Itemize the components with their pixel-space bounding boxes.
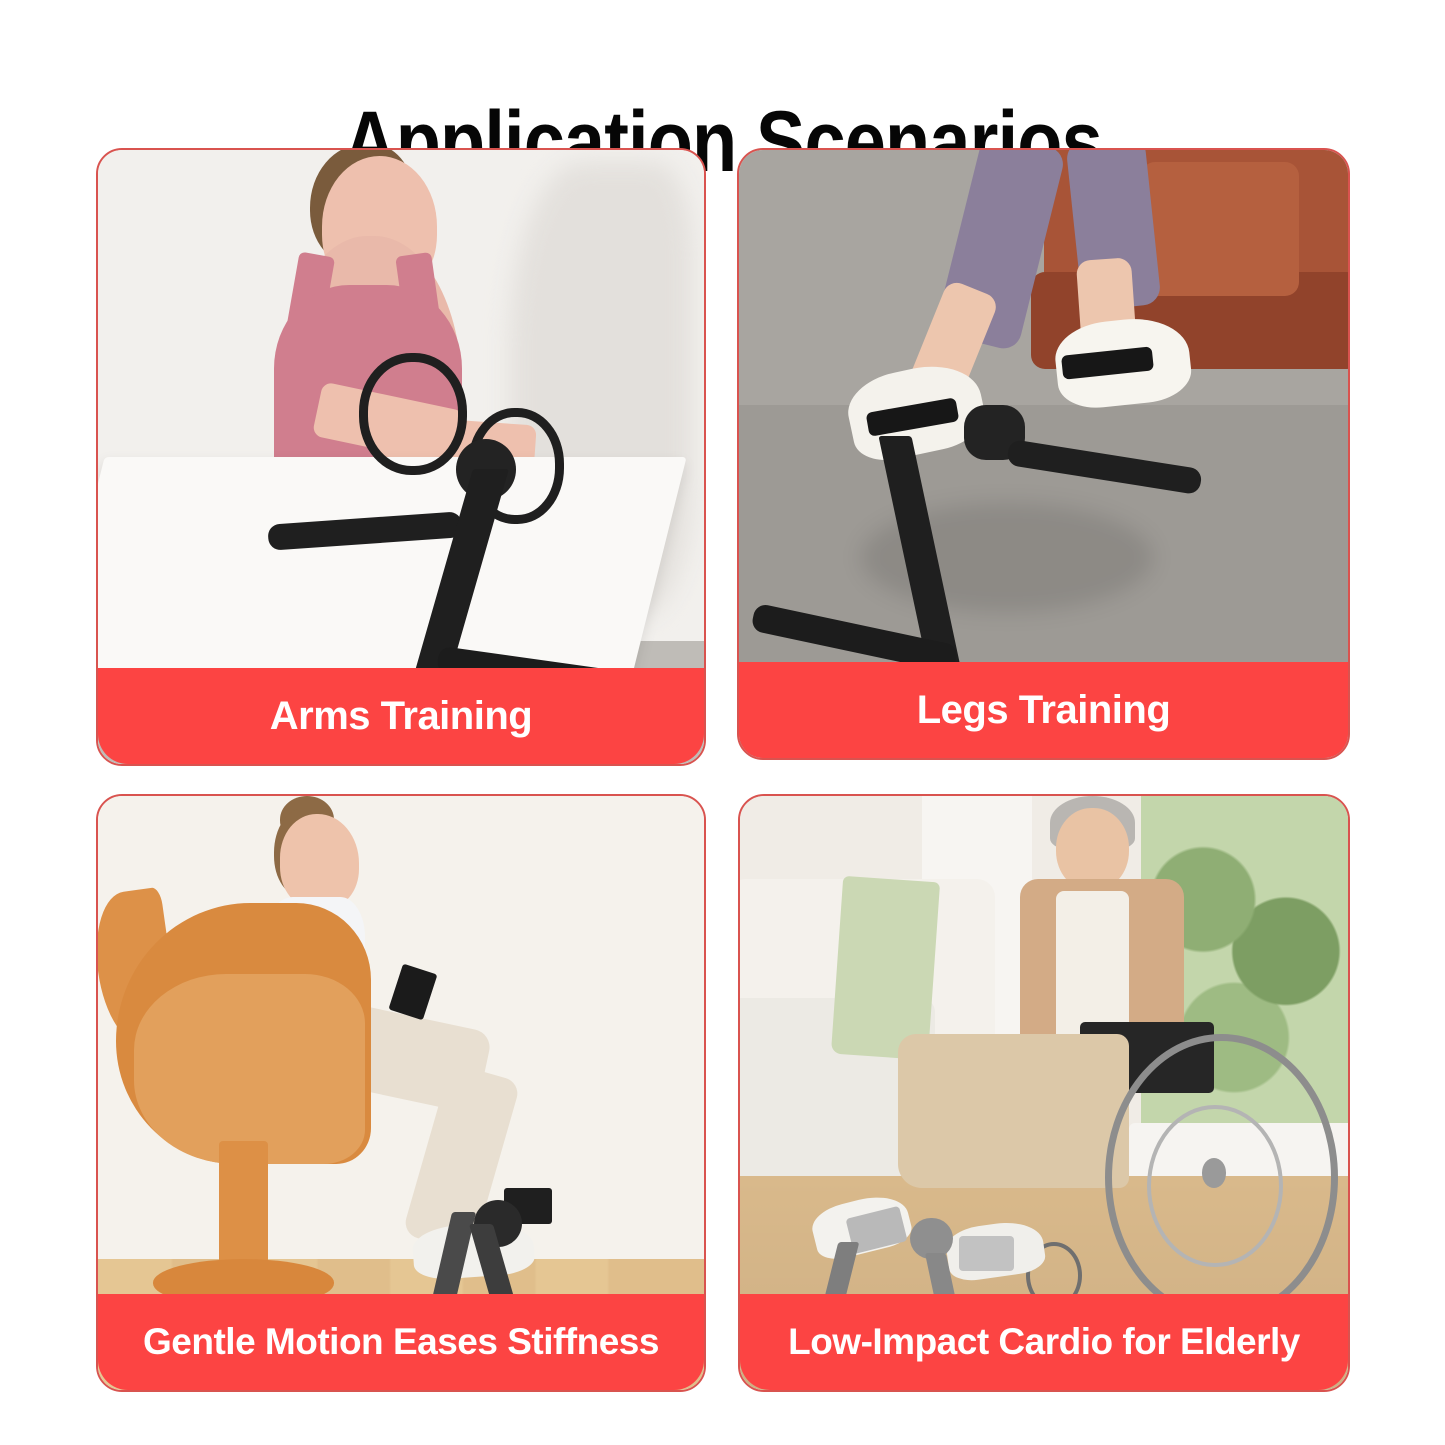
card-caption-label-arms-training: Arms Training	[270, 694, 532, 738]
scenario-card-low-impact-cardio[interactable]: Low-Impact Cardio for Elderly	[738, 794, 1350, 1392]
card-caption-band-legs-training: Legs Training	[739, 662, 1348, 758]
card-photo-frame-gentle-motion: Gentle Motion Eases Stiffness	[96, 794, 706, 1392]
card-caption-label-low-impact-cardio: Low-Impact Cardio for Elderly	[788, 1320, 1300, 1364]
scenario-card-arms-training[interactable]: Arms Training	[96, 148, 706, 766]
card-caption-label-gentle-motion: Gentle Motion Eases Stiffness	[143, 1320, 659, 1364]
scenario-card-legs-training[interactable]: Legs Training	[737, 148, 1350, 760]
card-caption-label-legs-training: Legs Training	[917, 688, 1171, 732]
scenario-card-grid: Arms Training	[0, 0, 1445, 1445]
card-caption-band-arms-training: Arms Training	[98, 668, 704, 764]
card-photo-frame-arms-training: Arms Training	[96, 148, 706, 766]
card-photo-frame-legs-training: Legs Training	[737, 148, 1350, 760]
card-photo-frame-low-impact-cardio: Low-Impact Cardio for Elderly	[738, 794, 1350, 1392]
card-caption-band-gentle-motion: Gentle Motion Eases Stiffness	[98, 1294, 704, 1390]
scenario-card-gentle-motion[interactable]: Gentle Motion Eases Stiffness	[96, 794, 706, 1392]
card-caption-band-low-impact-cardio: Low-Impact Cardio for Elderly	[740, 1294, 1348, 1390]
